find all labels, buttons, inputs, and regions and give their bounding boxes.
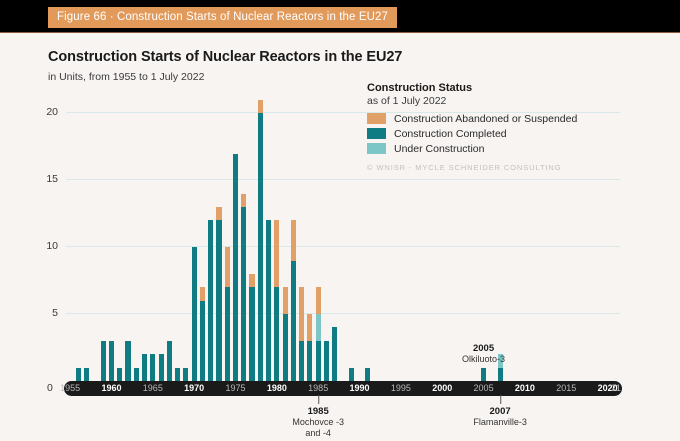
bar — [316, 287, 321, 381]
bar-segment — [233, 154, 238, 381]
bar — [233, 154, 238, 381]
bar — [283, 287, 288, 381]
bar-segment — [258, 100, 263, 113]
bar-segment — [84, 368, 89, 381]
bar-segment — [299, 341, 304, 381]
bar — [101, 341, 106, 381]
x-axis-tick-label: 2010 — [515, 381, 535, 396]
x-axis-tick-label: 2015 — [556, 381, 576, 396]
bar — [109, 341, 114, 381]
bar — [150, 354, 155, 381]
bar-segment — [349, 368, 354, 381]
x-axis-tick-label: 1975 — [225, 381, 245, 396]
bar — [241, 194, 246, 381]
bar-segment — [291, 261, 296, 381]
x-axis-tick-label: 1955 — [60, 381, 80, 396]
bar-segment — [175, 368, 180, 381]
bar-segment — [134, 368, 139, 381]
bar-segment — [208, 220, 213, 381]
bar-segment — [332, 327, 337, 381]
y-axis-tick-label: 15 — [22, 173, 58, 185]
annotation-label-line2: and -4 — [292, 428, 344, 439]
bar — [76, 368, 81, 381]
bar-series — [66, 100, 620, 381]
bar-segment — [200, 301, 205, 381]
bar-segment — [316, 314, 321, 341]
x-axis-tick-label: 1965 — [143, 381, 163, 396]
bar — [324, 341, 329, 381]
bar-segment — [225, 287, 230, 381]
annotation-year: 2005 — [462, 343, 505, 354]
x-axis-tick-label: 21 — [611, 381, 621, 396]
annotation-year: 1985 — [292, 406, 344, 417]
bar-segment — [266, 220, 271, 381]
bar — [307, 314, 312, 381]
bar-segment — [200, 287, 205, 300]
bar-segment — [76, 368, 81, 381]
bar-segment — [150, 354, 155, 381]
bar — [117, 368, 122, 381]
annotation-label: Flamanville-3 — [473, 417, 527, 428]
x-axis-tick-label: 1990 — [350, 381, 370, 396]
bar-segment — [241, 194, 246, 207]
bar — [349, 368, 354, 381]
annotation-label: Olkiluoto-3 — [462, 354, 505, 365]
bar-segment — [101, 341, 106, 381]
bar-segment — [299, 287, 304, 341]
bar-segment — [109, 341, 114, 381]
bar-segment — [117, 368, 122, 381]
bar — [365, 368, 370, 381]
bar — [159, 354, 164, 381]
bar — [258, 100, 263, 381]
bar-segment — [258, 113, 263, 381]
bar — [183, 368, 188, 381]
bar — [167, 341, 172, 381]
bar-segment — [307, 341, 312, 381]
x-axis-tick-label: 1960 — [101, 381, 121, 396]
x-axis-tick-label: 1970 — [184, 381, 204, 396]
bar-segment — [192, 247, 197, 381]
bar-segment — [498, 368, 503, 381]
top-banner: Figure 66 · Construction Starts of Nucle… — [0, 0, 680, 32]
annotation-leader-line — [318, 395, 319, 404]
bar-segment — [316, 287, 321, 314]
bar-segment — [283, 314, 288, 381]
bar-segment — [183, 368, 188, 381]
bar-segment — [481, 368, 486, 381]
bar — [192, 247, 197, 381]
bar — [291, 220, 296, 381]
figure-caption: Figure 66 · Construction Starts of Nucle… — [48, 7, 397, 28]
x-axis-tick-label: 1980 — [267, 381, 287, 396]
annotation-year: 2007 — [473, 406, 527, 417]
chart-card: Construction Starts of Nuclear Reactors … — [0, 33, 680, 441]
bar — [481, 368, 486, 381]
bar — [134, 368, 139, 381]
bar — [175, 368, 180, 381]
bar-segment — [274, 220, 279, 287]
bar — [216, 207, 221, 381]
bar-segment — [249, 287, 254, 381]
x-axis-tick-label: 1985 — [308, 381, 328, 396]
bar-segment — [249, 274, 254, 287]
bar — [274, 220, 279, 381]
annotation-label: Mochovce -3 — [292, 417, 344, 428]
y-axis-tick-label: 20 — [22, 106, 58, 118]
x-axis: 1955196019651970197519801985199019952000… — [64, 381, 622, 396]
bar — [125, 341, 130, 381]
x-axis-tick-label: 2005 — [474, 381, 494, 396]
bar-segment — [316, 341, 321, 381]
y-axis: 5101520 — [18, 100, 58, 381]
bar-segment — [142, 354, 147, 381]
bar — [332, 327, 337, 381]
bar-segment — [274, 287, 279, 381]
bar-segment — [125, 341, 130, 381]
bar-segment — [216, 207, 221, 220]
chart-annotation: 2005Olkiluoto-3 — [462, 343, 505, 365]
screenshot-root: Figure 66 · Construction Starts of Nucle… — [0, 0, 680, 441]
x-axis-tick-label: 2000 — [432, 381, 452, 396]
bar — [225, 247, 230, 381]
bar — [84, 368, 89, 381]
bar — [299, 287, 304, 381]
bar — [208, 220, 213, 381]
bar — [249, 274, 254, 381]
y-axis-tick-label: 10 — [22, 240, 58, 252]
bar-segment — [291, 220, 296, 260]
bar — [200, 287, 205, 381]
bar-segment — [159, 354, 164, 381]
bar-segment — [365, 368, 370, 381]
bar-segment — [225, 247, 230, 287]
annotation-leader-line — [500, 395, 501, 404]
x-axis-tick-label: 1995 — [391, 381, 411, 396]
bar — [142, 354, 147, 381]
bar-segment — [167, 341, 172, 381]
y-axis-tick-label: 5 — [22, 307, 58, 319]
bar-segment — [216, 220, 221, 381]
y-axis-zero-label: 0 — [47, 381, 53, 396]
chart-annotation: 2007Flamanville-3 — [473, 399, 527, 428]
plot-canvas — [66, 100, 620, 381]
chart-annotation: 1985Mochovce -3and -4 — [292, 399, 344, 439]
bar-segment — [241, 207, 246, 381]
bar-segment — [324, 341, 329, 381]
plot-area: 5101520 0 195519601965197019751980198519… — [0, 33, 680, 441]
bar — [266, 220, 271, 381]
bar-segment — [283, 287, 288, 314]
bar-segment — [307, 314, 312, 341]
